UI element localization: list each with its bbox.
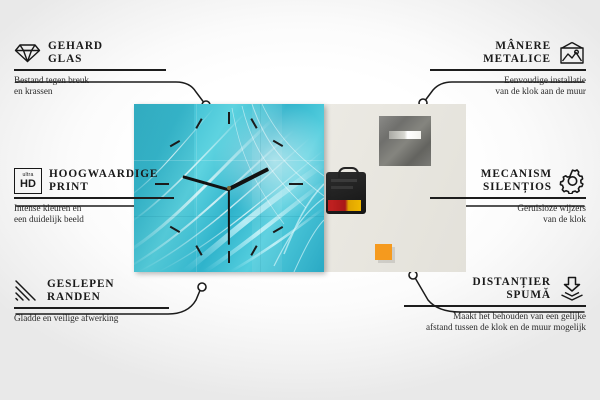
ultra-hd-icon: ultra HD	[14, 168, 42, 194]
feature-gehard-glas[interactable]: GEHARD GLAS Bestand tegen breuk en krass…	[14, 40, 166, 98]
feature-manere-metalice[interactable]: MÂNERE METALICE Eenvoudige installatie v…	[430, 40, 586, 98]
battery	[328, 200, 361, 211]
feature-divider	[430, 197, 586, 198]
hand-cap	[227, 186, 231, 190]
feature-header: MÂNERE METALICE	[430, 40, 586, 66]
second-hand	[228, 189, 230, 245]
gear-icon	[559, 168, 586, 194]
hour-marker	[228, 112, 230, 124]
connector-dot-geslepen-randen	[198, 283, 206, 291]
feature-description: Gladde en veilige afwerking	[14, 313, 169, 324]
feature-mecanism-silentios[interactable]: MECANISM SILENȚIOS Geruisloze wijzers va…	[430, 168, 586, 226]
feature-description: Bestand tegen breuk en krassen	[14, 75, 166, 98]
infographic-canvas: GEHARD GLAS Bestand tegen breuk en krass…	[0, 0, 600, 400]
feature-header: ultra HD HOOGWAARDIGE PRINT	[14, 168, 174, 194]
feature-description: Geruisloze wijzers van de klok	[430, 203, 586, 226]
feature-header: GEHARD GLAS	[14, 40, 166, 66]
feature-divider	[14, 197, 174, 198]
wall-hanger-icon	[558, 41, 586, 65]
feature-divider	[14, 69, 166, 70]
diamond-icon	[14, 42, 41, 64]
feature-hoogwaardige-print[interactable]: ultra HD HOOGWAARDIGE PRINT Intense kleu…	[14, 168, 174, 226]
feature-divider	[14, 307, 169, 308]
feature-distantier-spuma[interactable]: DISTANȚIER SPUMĂ Maakt het behouden van …	[404, 276, 586, 334]
feature-divider	[404, 305, 586, 306]
hour-marker	[289, 183, 303, 185]
feature-title: MÂNERE METALICE	[483, 40, 551, 66]
ultra-hd-large-label: HD	[20, 179, 36, 190]
feature-header: DISTANȚIER SPUMĂ	[404, 276, 586, 302]
mechanism-slot-1	[331, 179, 357, 182]
metal-hanger-image	[379, 116, 431, 166]
mechanism-loop	[338, 167, 359, 178]
hanger-strip	[389, 131, 421, 139]
feature-title: HOOGWAARDIGE PRINT	[49, 168, 158, 194]
feature-description: Eenvoudige installatie van de klok aan d…	[430, 75, 586, 98]
feature-title: GEHARD GLAS	[48, 40, 103, 66]
feature-divider	[430, 69, 586, 70]
feature-description: Maakt het behouden van een gelijke afsta…	[404, 311, 586, 334]
beveled-edges-icon	[14, 279, 40, 303]
foam-spacer-image	[375, 244, 392, 260]
product-illustration	[134, 104, 466, 272]
feature-geslepen-randen[interactable]: GESLEPEN RANDEN Gladde en veilige afwerk…	[14, 278, 169, 324]
foam-spacer-icon	[558, 276, 586, 302]
hour-marker	[228, 251, 230, 263]
clock-mechanism-image	[326, 172, 366, 214]
feature-description: Intense kleuren en een duidelijk beeld	[14, 203, 174, 226]
feature-title: GESLEPEN RANDEN	[47, 278, 114, 304]
feature-header: GESLEPEN RANDEN	[14, 278, 169, 304]
feature-title: MECANISM SILENȚIOS	[481, 168, 552, 194]
feature-title: DISTANȚIER SPUMĂ	[473, 276, 551, 302]
mechanism-slot-2	[331, 186, 353, 189]
feature-header: MECANISM SILENȚIOS	[430, 168, 586, 194]
